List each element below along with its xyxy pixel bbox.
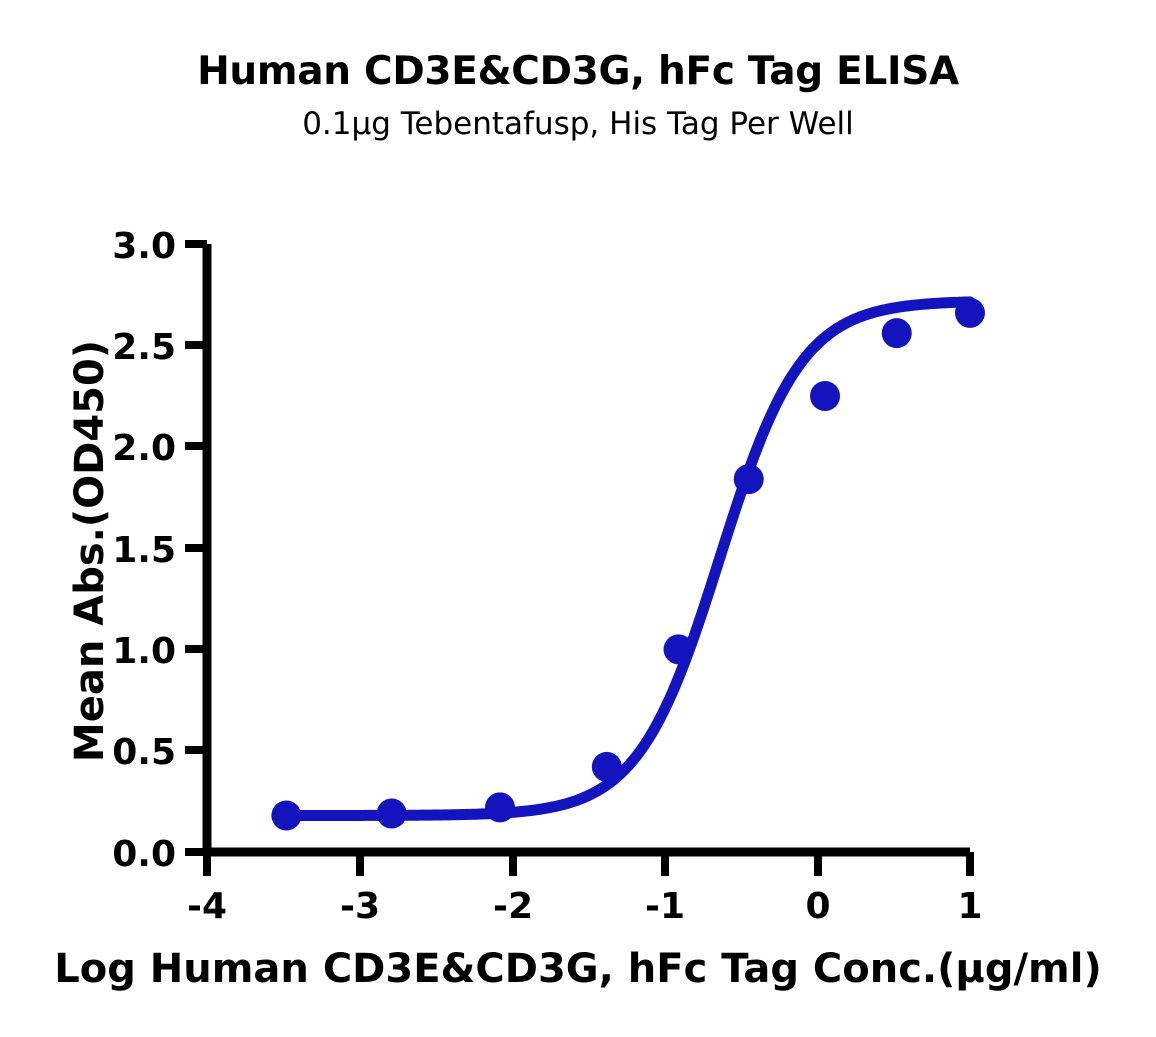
data-point [734, 464, 764, 494]
x-tick-label-neg3: -3 [340, 886, 380, 927]
data-point-markers [271, 298, 985, 831]
data-point [955, 298, 985, 328]
plot-area: 3.0 2.5 2.0 1.5 1.0 0.5 0.0 -4 -3 -2 -1 … [0, 0, 1156, 1037]
y-tick-label-1-0: 1.0 [112, 631, 176, 672]
data-point [810, 381, 840, 411]
data-point [664, 634, 694, 664]
y-tick-label-1-5: 1.5 [112, 530, 176, 571]
x-tick-label-neg1: -1 [645, 886, 685, 927]
y-axis-tick-labels: 3.0 2.5 2.0 1.5 1.0 0.5 0.0 [112, 226, 176, 875]
x-tick-label-1: 1 [957, 886, 982, 927]
x-axis-tick-labels: -4 -3 -2 -1 0 1 [187, 886, 983, 927]
data-point [485, 792, 515, 822]
y-tick-label-2-5: 2.5 [112, 327, 176, 368]
data-point [271, 801, 301, 831]
y-tick-label-0-5: 0.5 [112, 732, 176, 773]
y-axis-title: Mean Abs.(OD450) [67, 340, 113, 762]
elisa-chart-figure: Human CD3E&CD3G, hFc Tag ELISA 0.1μg Teb… [0, 0, 1156, 1037]
data-point [592, 752, 622, 782]
y-tick-label-0-0: 0.0 [112, 834, 176, 875]
x-tick-label-neg2: -2 [493, 886, 533, 927]
x-axis-title: Log Human CD3E&CD3G, hFc Tag Conc.(μg/ml… [54, 946, 1101, 992]
x-tick-label-neg4: -4 [187, 886, 227, 927]
y-tick-label-3-0: 3.0 [112, 226, 176, 267]
x-tick-label-0: 0 [805, 886, 830, 927]
data-point [882, 318, 912, 348]
data-point [377, 798, 407, 828]
dose-response-curve [286, 302, 970, 816]
y-tick-label-2-0: 2.0 [112, 428, 176, 469]
